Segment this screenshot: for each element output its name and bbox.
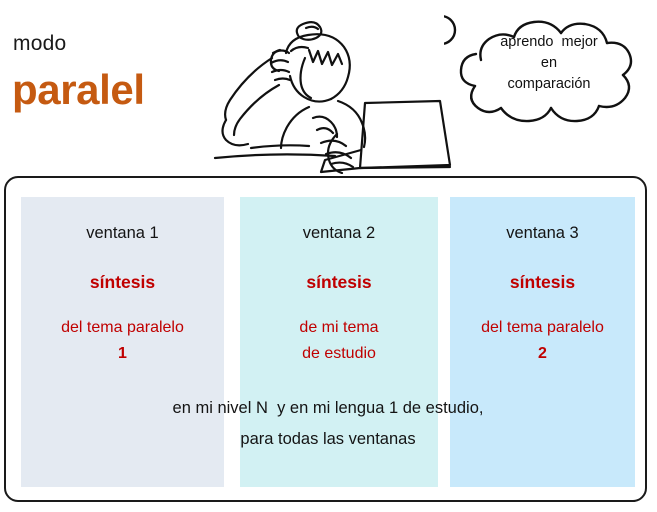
window-label-2: ventana 2 (240, 223, 438, 243)
thought-bubble-line: en (474, 53, 624, 74)
thought-bubble-line: comparación (474, 74, 624, 95)
description-line-2-a: de mi tema (299, 319, 378, 336)
mode-name-title: paralel (12, 66, 145, 114)
mode-word-label: modo (13, 32, 66, 56)
synthesis-label-3: síntesis (450, 272, 635, 293)
description-line-3-a: del tema paralelo (481, 319, 604, 336)
thought-bubble-line: aprendo mejor (474, 32, 624, 53)
description-line-2-b: de estudio (302, 345, 376, 362)
synthesis-label-2: síntesis (240, 272, 438, 293)
window-label-1: ventana 1 (21, 223, 224, 243)
windows-panel: ventana 1 síntesis del tema paralelo 1 v… (4, 176, 647, 502)
description-line-3-b: 2 (538, 345, 547, 362)
description-3: del tema paralelo 2 (450, 315, 635, 367)
window-column-1[interactable]: ventana 1 síntesis del tema paralelo 1 (21, 197, 224, 487)
window-label-3: ventana 3 (450, 223, 635, 243)
thought-bubble: aprendo mejorencomparación (444, 6, 654, 131)
window-column-3[interactable]: ventana 3 síntesis del tema paralelo 2 (450, 197, 635, 487)
description-line-1-b: 1 (118, 345, 127, 362)
description-2: de mi tema de estudio (240, 315, 438, 367)
header-area: modo paralel (0, 0, 657, 175)
student-at-laptop-illustration (213, 6, 453, 174)
synthesis-label-1: síntesis (21, 272, 224, 293)
description-line-1-a: del tema paralelo (61, 319, 184, 336)
thought-bubble-text: aprendo mejorencomparación (474, 32, 624, 95)
window-column-2[interactable]: ventana 2 síntesis de mi tema de estudio (240, 197, 438, 487)
description-1: del tema paralelo 1 (21, 315, 224, 367)
